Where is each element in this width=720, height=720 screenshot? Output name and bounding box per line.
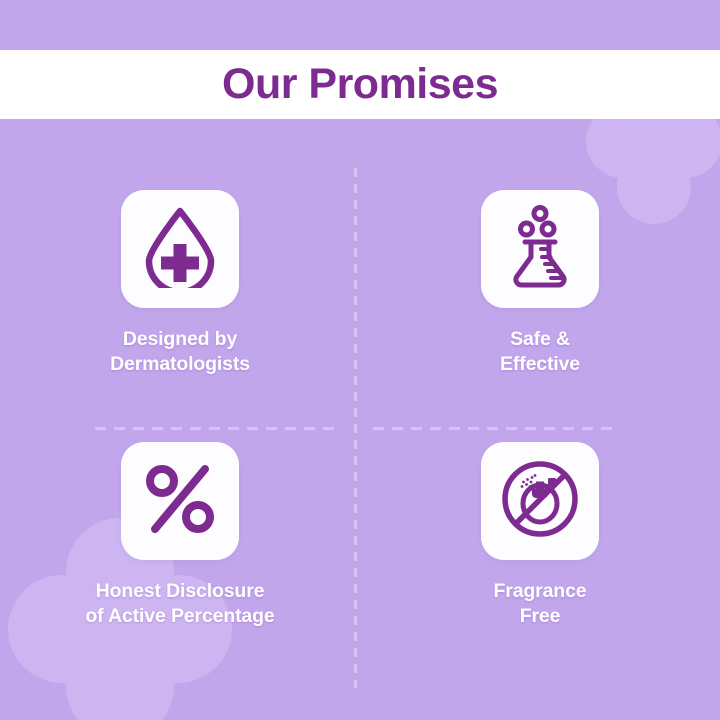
promise-item-fragrance-free: Fragrance Free bbox=[360, 442, 720, 694]
promise-grid: Designed by Dermatologists bbox=[0, 190, 720, 694]
page-title: Our Promises bbox=[222, 63, 498, 106]
icon-card bbox=[481, 190, 599, 308]
icon-card bbox=[481, 442, 599, 560]
header-banner: Our Promises bbox=[0, 50, 720, 119]
promise-item-safe-and-effective: Safe & Effective bbox=[360, 190, 720, 442]
promise-label: Designed by Dermatologists bbox=[110, 327, 250, 377]
promise-item-honest-disclosure: Honest Disclosure of Active Percentage bbox=[0, 442, 360, 694]
promise-item-designed-by-dermatologists: Designed by Dermatologists bbox=[0, 190, 360, 442]
droplet-plus-icon bbox=[140, 206, 220, 293]
no-fragrance-icon bbox=[499, 458, 581, 545]
percent-icon bbox=[143, 462, 217, 541]
promise-label: Fragrance Free bbox=[494, 579, 587, 629]
flask-icon bbox=[503, 205, 577, 294]
clover-core bbox=[614, 116, 694, 186]
icon-card bbox=[121, 442, 239, 560]
promise-label: Safe & Effective bbox=[500, 327, 580, 377]
promise-label: Honest Disclosure of Active Percentage bbox=[85, 579, 274, 629]
promises-infographic: Our Promises Designed by Dermatologists bbox=[0, 0, 720, 720]
icon-card bbox=[121, 190, 239, 308]
